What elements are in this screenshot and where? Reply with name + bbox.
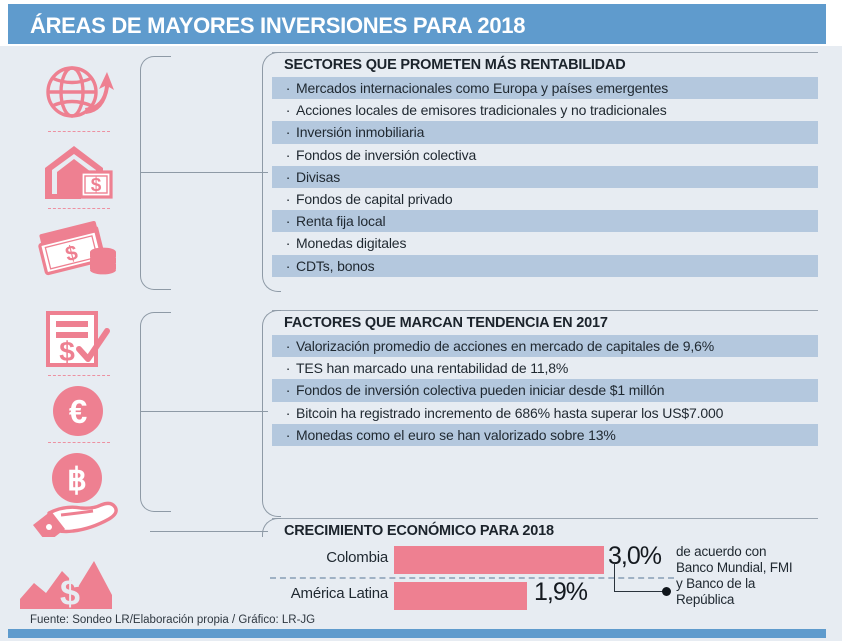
list-item-text: Fondos de inversión colectiva xyxy=(296,146,812,164)
panel-title: FACTORES QUE MARCAN TENDENCIA EN 2017 xyxy=(284,310,818,331)
bullet-icon: · xyxy=(280,123,296,141)
bar-value: 1,9% xyxy=(534,578,587,607)
footer-band xyxy=(8,629,826,638)
icon-document-dollar-check: $ xyxy=(0,308,155,370)
annotation-leader-line xyxy=(614,591,666,592)
list-item-text: Mercados internacionales como Europa y p… xyxy=(296,79,812,97)
panel-list: · Valorización promedio de acciones en m… xyxy=(262,335,818,446)
annotation-line: República xyxy=(676,592,836,608)
bullet-icon: · xyxy=(280,257,296,275)
list-item: · TES han marcado una rentabilidad de 11… xyxy=(272,357,818,379)
cash-coins-icon: $ xyxy=(37,219,119,277)
icon-euro-coin: € xyxy=(0,383,155,439)
panel-factores: FACTORES QUE MARCAN TENDENCIA EN 2017 · … xyxy=(262,310,818,446)
bar-label: América Latina xyxy=(270,585,388,602)
icon-divider-4 xyxy=(48,442,110,443)
list-item-text: Divisas xyxy=(296,168,812,186)
icon-divider-1 xyxy=(48,131,110,132)
source-credit: Fuente: Sondeo LR/Elaboración propia / G… xyxy=(30,614,315,626)
svg-text:€: € xyxy=(68,393,86,430)
list-item-text: Bitcoin ha registrado incremento de 686%… xyxy=(296,404,812,422)
house-money-icon: $ xyxy=(41,142,115,200)
icon-house-money: $ xyxy=(0,140,155,202)
bullet-icon: · xyxy=(280,168,296,186)
icon-globe-growth xyxy=(0,60,155,126)
icon-rail: $ $ xyxy=(0,46,155,621)
panel-sectores: SECTORES QUE PROMETEN MÁS RENTABILIDAD ·… xyxy=(262,52,818,277)
bracket-stem xyxy=(140,411,268,412)
bracket-group-1 xyxy=(140,56,268,288)
chart-title: CRECIMIENTO ECONÓMICO PARA 2018 xyxy=(284,518,818,539)
list-item-text: TES han marcado una rentabilidad de 11,8… xyxy=(296,359,812,377)
icon-cash-coins: $ xyxy=(0,217,155,279)
list-item-text: Valorización promedio de acciones en mer… xyxy=(296,337,812,355)
panel-left-bracket xyxy=(262,518,281,537)
bullet-icon: · xyxy=(280,381,296,399)
document-dollar-check-icon: $ xyxy=(43,309,113,369)
list-item: · Valorización promedio de acciones en m… xyxy=(272,335,818,357)
list-item-text: CDTs, bonos xyxy=(296,257,812,275)
bullet-icon: · xyxy=(280,404,296,422)
panel-list: · Mercados internacionales como Europa y… xyxy=(262,77,818,277)
list-item-text: Fondos de capital privado xyxy=(296,190,812,208)
bracket-group-3 xyxy=(150,531,268,533)
bullet-icon: · xyxy=(280,359,296,377)
list-item: · Inversión inmobiliaria xyxy=(272,121,818,143)
svg-text:$: $ xyxy=(90,175,101,196)
bullet-icon: · xyxy=(280,79,296,97)
panel-crecimiento: CRECIMIENTO ECONÓMICO PARA 2018 xyxy=(262,518,818,543)
euro-coin-icon: € xyxy=(49,383,107,439)
growth-area-chart-dollar-icon: $ xyxy=(20,547,136,613)
panel-title: SECTORES QUE PROMETEN MÁS RENTABILIDAD xyxy=(284,52,818,73)
list-item-text: Acciones locales de emisores tradicional… xyxy=(296,101,812,119)
panel-top-rule xyxy=(272,310,818,311)
list-item: · Monedas como el euro se han valorizado… xyxy=(272,424,818,446)
bracket-stem xyxy=(140,172,268,173)
list-item: · Acciones locales de emisores tradicion… xyxy=(272,99,818,121)
annotation-line: y Banco de la xyxy=(676,576,836,592)
infographic-root: ÁREAS DE MAYORES INVERSIONES PARA 2018 xyxy=(0,0,842,641)
bullet-icon: · xyxy=(280,101,296,119)
bar-value: 3,0% xyxy=(608,542,661,571)
bullet-icon: · xyxy=(280,337,296,355)
list-item: · Renta fija local xyxy=(272,210,818,232)
annotation-line: Banco Mundial, FMI xyxy=(676,560,836,576)
bracket-left-arm xyxy=(140,56,171,290)
panel-top-rule xyxy=(272,518,818,519)
bitcoin-hand-icon: ฿ xyxy=(31,451,125,537)
icon-growth-area-chart: $ xyxy=(0,545,155,615)
list-item-text: Fondos de inversión colectiva pueden ini… xyxy=(296,381,812,399)
list-item-text: Monedas digitales xyxy=(296,234,812,252)
svg-text:฿: ฿ xyxy=(67,462,87,497)
icon-divider-2 xyxy=(48,208,110,209)
globe-growth-icon xyxy=(41,62,115,124)
bar-fill xyxy=(394,546,604,574)
panel-top-rule xyxy=(272,52,818,53)
bar-label: Colombia xyxy=(270,549,388,566)
svg-text:$: $ xyxy=(59,572,79,613)
bar-fill xyxy=(394,582,527,610)
list-item-text: Monedas como el euro se han valorizado s… xyxy=(296,426,812,444)
list-item: · Fondos de capital privado xyxy=(272,188,818,210)
list-item: · Bitcoin ha registrado incremento de 68… xyxy=(272,402,818,424)
bracket-group-2 xyxy=(140,312,268,510)
bullet-icon: · xyxy=(280,212,296,230)
list-item: · CDTs, bonos xyxy=(272,255,818,277)
list-item-text: Inversión inmobiliaria xyxy=(296,123,812,141)
list-item: · Mercados internacionales como Europa y… xyxy=(272,77,818,99)
header-band: ÁREAS DE MAYORES INVERSIONES PARA 2018 xyxy=(8,4,826,44)
svg-text:$: $ xyxy=(59,336,75,367)
bracket-left-arm xyxy=(140,312,171,512)
header-wrapper: ÁREAS DE MAYORES INVERSIONES PARA 2018 xyxy=(0,0,842,46)
bullet-icon: · xyxy=(280,190,296,208)
annotation-elbow xyxy=(614,563,615,592)
bullet-icon: · xyxy=(280,426,296,444)
annotation-text: de acuerdo con Banco Mundial, FMI y Banc… xyxy=(676,544,836,608)
bracket-stem xyxy=(150,531,268,532)
list-item: · Divisas xyxy=(272,166,818,188)
list-item: · Fondos de inversión colectiva pueden i… xyxy=(272,379,818,401)
annotation-dot-icon xyxy=(662,587,671,596)
list-item: · Fondos de inversión colectiva xyxy=(272,144,818,166)
bullet-icon: · xyxy=(280,146,296,164)
list-item: · Monedas digitales xyxy=(272,232,818,254)
page-title: ÁREAS DE MAYORES INVERSIONES PARA 2018 xyxy=(30,13,525,39)
icon-divider-3 xyxy=(48,375,110,376)
list-item-text: Renta fija local xyxy=(296,212,812,230)
annotation-line: de acuerdo con xyxy=(676,544,836,560)
icon-bitcoin-hand: ฿ xyxy=(0,449,155,539)
bullet-icon: · xyxy=(280,234,296,252)
